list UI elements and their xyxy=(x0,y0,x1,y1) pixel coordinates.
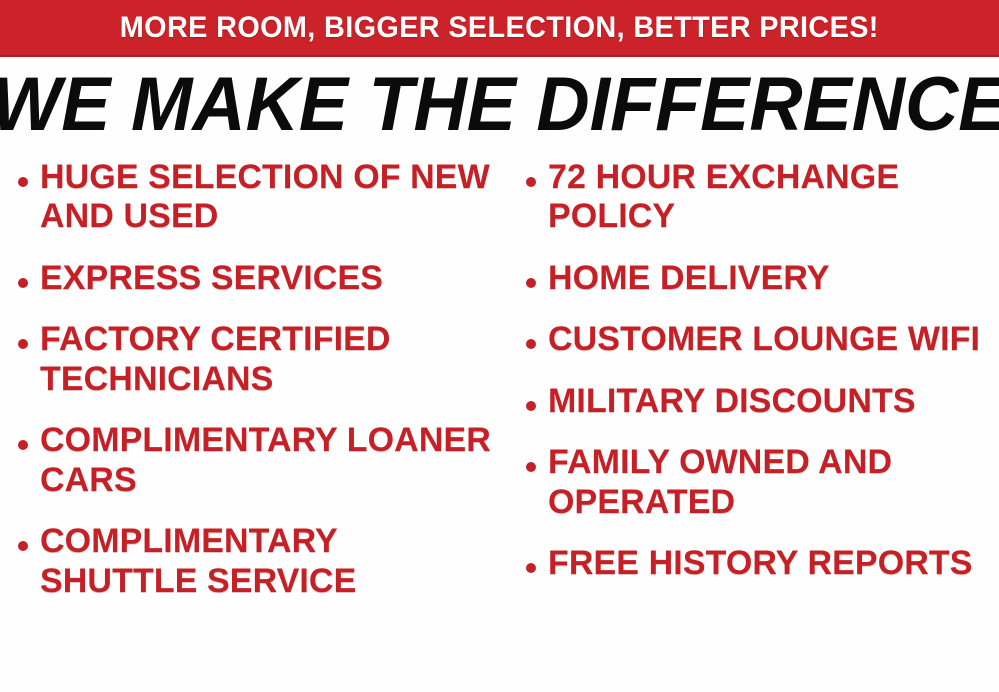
list-item-label: FREE HISTORY REPORTS xyxy=(548,544,973,583)
features-column-left: HUGE SELECTION OF NEW AND USED EXPRESS S… xyxy=(0,158,505,623)
page-title: WE MAKE THE DIFFERENCE xyxy=(0,67,999,143)
bullet-dot-icon xyxy=(18,440,28,450)
headline-container: WE MAKE THE DIFFERENCE xyxy=(0,62,999,148)
list-item-label: HOME DELIVERY xyxy=(548,259,830,298)
list-item: COMPLIMENTARY SHUTTLE SERVICE xyxy=(18,522,501,601)
list-item: CUSTOMER LOUNGE WIFI xyxy=(526,320,997,359)
list-item-label: 72 HOUR EXCHANGE POLICY xyxy=(548,158,997,237)
bullet-dot-icon xyxy=(526,278,536,288)
bullet-dot-icon xyxy=(18,339,28,349)
list-item: MILITARY DISCOUNTS xyxy=(526,382,997,421)
list-item-label: FACTORY CERTIFIED TECHNICIANS xyxy=(40,320,501,399)
bullet-dot-icon xyxy=(526,339,536,349)
bullet-dot-icon xyxy=(526,177,536,187)
dealership-promo-banner: MORE ROOM, BIGGER SELECTION, BETTER PRIC… xyxy=(0,0,999,692)
bullet-dot-icon xyxy=(18,541,28,551)
list-item-label: COMPLIMENTARY LOANER CARS xyxy=(40,421,501,500)
list-item: 72 HOUR EXCHANGE POLICY xyxy=(526,158,997,237)
list-item-label: FAMILY OWNED AND OPERATED xyxy=(548,443,997,522)
features-column-right: 72 HOUR EXCHANGE POLICY HOME DELIVERY CU… xyxy=(505,158,999,606)
top-announcement-text: MORE ROOM, BIGGER SELECTION, BETTER PRIC… xyxy=(120,11,879,45)
list-item-label: EXPRESS SERVICES xyxy=(40,259,383,298)
top-announcement-bar: MORE ROOM, BIGGER SELECTION, BETTER PRIC… xyxy=(0,0,999,57)
list-item-label: CUSTOMER LOUNGE WIFI xyxy=(548,320,980,359)
bullet-dot-icon xyxy=(526,462,536,472)
list-item: FAMILY OWNED AND OPERATED xyxy=(526,443,997,522)
bullet-dot-icon xyxy=(18,177,28,187)
list-item-label: HUGE SELECTION OF NEW AND USED xyxy=(40,158,501,237)
bullet-dot-icon xyxy=(526,563,536,573)
list-item: HUGE SELECTION OF NEW AND USED xyxy=(18,158,501,237)
list-item-label: COMPLIMENTARY SHUTTLE SERVICE xyxy=(40,522,501,601)
list-item: FREE HISTORY REPORTS xyxy=(526,544,997,583)
features-columns: HUGE SELECTION OF NEW AND USED EXPRESS S… xyxy=(0,158,999,692)
list-item: EXPRESS SERVICES xyxy=(18,259,501,298)
list-item: HOME DELIVERY xyxy=(526,259,997,298)
bullet-dot-icon xyxy=(526,401,536,411)
list-item: FACTORY CERTIFIED TECHNICIANS xyxy=(18,320,501,399)
bullet-dot-icon xyxy=(18,278,28,288)
list-item: COMPLIMENTARY LOANER CARS xyxy=(18,421,501,500)
list-item-label: MILITARY DISCOUNTS xyxy=(548,382,916,421)
